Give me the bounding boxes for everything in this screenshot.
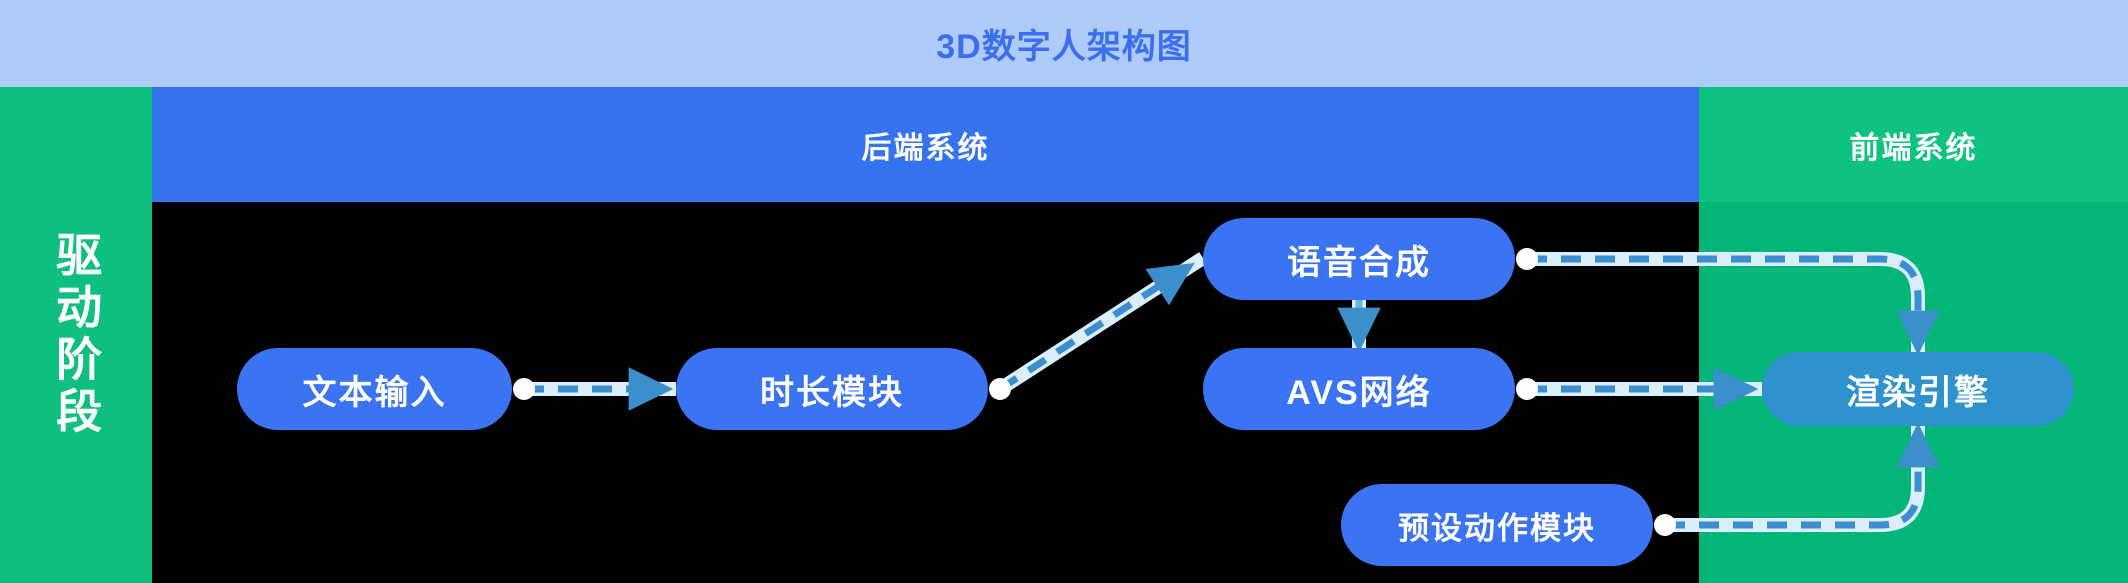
node-text-input[interactable]: 文本输入: [237, 348, 512, 430]
node-preset-action-module[interactable]: 预设动作模块: [1341, 484, 1653, 566]
node-label: 时长模块: [760, 365, 904, 414]
node-label: 语音合成: [1287, 235, 1431, 284]
edge-preset-action-to-render: [1665, 426, 1918, 525]
diagram-canvas: 3D数字人架构图 驱动阶段 后端系统 前端系统: [0, 0, 2128, 583]
node-label: 渲染引擎: [1846, 365, 1990, 414]
port-avs-out: [1516, 378, 1538, 400]
node-speech-synthesis[interactable]: 语音合成: [1203, 218, 1515, 300]
edge-tts-to-render: [1527, 259, 1918, 352]
port-duration-out: [989, 378, 1011, 400]
port-text-input-out: [513, 378, 535, 400]
node-label: 预设动作模块: [1398, 503, 1596, 548]
node-render-engine[interactable]: 渲染引擎: [1762, 352, 2074, 426]
node-label: 文本输入: [303, 365, 447, 414]
node-avs-network[interactable]: AVS网络: [1203, 348, 1515, 430]
edge-duration-to-tts: [1000, 258, 1203, 389]
port-tts-out: [1516, 248, 1538, 270]
edge-layer: [0, 0, 2128, 583]
port-preset-action-out: [1654, 514, 1676, 536]
node-label: AVS网络: [1286, 365, 1431, 414]
node-duration-module[interactable]: 时长模块: [676, 348, 988, 430]
